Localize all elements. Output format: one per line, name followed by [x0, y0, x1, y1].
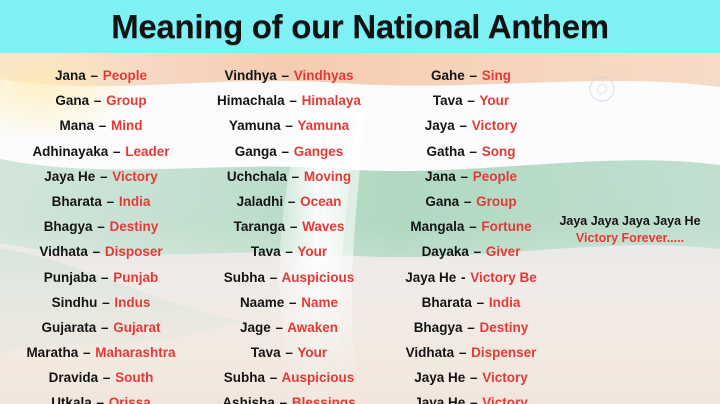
dash: –: [476, 295, 486, 310]
glossary-row: Jaya He – Victory: [382, 390, 560, 404]
refrain-line-1: Jaya Jaya Jaya Jaya He: [540, 213, 720, 230]
term: Jaya: [425, 118, 455, 133]
term: Subha: [224, 370, 265, 385]
gloss: Group: [106, 93, 147, 108]
term: Ganga: [235, 144, 277, 159]
glossary-row: Adhinayaka – Leader: [6, 139, 196, 164]
term: Gatha: [426, 144, 464, 159]
dash: –: [473, 244, 483, 259]
dash: –: [280, 144, 290, 159]
glossary-row: Vidhata – Disposer: [6, 239, 196, 264]
gloss: Victory: [482, 395, 528, 404]
glossary-row: Jana – People: [6, 63, 196, 88]
dash: –: [469, 68, 479, 83]
term: Mana: [59, 118, 94, 133]
anthem-meaning-poster: Meaning of our National Anthem Jana – Pe…: [0, 0, 720, 404]
term: Gana: [425, 194, 459, 209]
term: Tava: [251, 244, 281, 259]
refrain-block: Jaya Jaya Jaya Jaya He Victory Forever..…: [540, 213, 720, 247]
term: Maratha: [26, 345, 78, 360]
refrain-line-2: Victory Forever.....: [540, 230, 720, 247]
term: Bharata: [52, 194, 102, 209]
dash: –: [459, 118, 469, 133]
glossary-row: Punjaba – Punjab: [6, 265, 196, 290]
dash: –: [284, 118, 294, 133]
glossary-row: Yamuna – Yamuna: [198, 113, 380, 138]
dash: –: [469, 395, 479, 404]
dash: -: [460, 270, 467, 285]
glossary-row: Tava – Your: [198, 239, 380, 264]
dash: –: [469, 370, 479, 385]
term: Taranga: [234, 219, 286, 234]
gloss: Disposer: [105, 244, 163, 259]
dash: –: [284, 244, 294, 259]
dash: –: [92, 244, 102, 259]
glossary-row: Bharata – India: [382, 290, 560, 315]
term: Jaladhi: [237, 194, 284, 209]
term: Vidhata: [39, 244, 88, 259]
dash: –: [288, 295, 298, 310]
glossary-row: Naame – Name: [198, 290, 380, 315]
dash: –: [466, 320, 476, 335]
gloss: Giver: [486, 244, 521, 259]
gloss: Yamuna: [297, 118, 349, 133]
glossary-row: Bhagya – Destiny: [6, 214, 196, 239]
term: Subha: [224, 270, 265, 285]
glossary-row: Vidhata – Dispenser: [382, 340, 560, 365]
gloss: Indus: [114, 295, 150, 310]
dash: –: [287, 194, 297, 209]
dash: –: [99, 169, 109, 184]
dash: –: [289, 219, 299, 234]
glossary-row: Jaya – Victory: [382, 113, 560, 138]
term: Bhagya: [414, 320, 463, 335]
glossary-row: Taranga – Waves: [198, 214, 380, 239]
term: Dayaka: [422, 244, 469, 259]
dash: –: [102, 370, 112, 385]
dash: –: [466, 93, 476, 108]
gloss: Victory: [112, 169, 158, 184]
term: Bhagya: [44, 219, 93, 234]
dash: –: [96, 219, 106, 234]
gloss: Destiny: [110, 219, 159, 234]
gloss: Your: [297, 244, 327, 259]
term: Mangala: [410, 219, 464, 234]
term: Uchchala: [227, 169, 287, 184]
gloss: India: [489, 295, 521, 310]
glossary-row: Dayaka – Giver: [382, 239, 560, 264]
term: Yamuna: [229, 118, 281, 133]
glossary-column-3: Gahe – Sing Tava – Your Jaya – Victory G…: [382, 63, 560, 404]
dash: –: [93, 93, 103, 108]
term: Gana: [55, 93, 89, 108]
dash: –: [469, 144, 479, 159]
glossary-row: Jaya He – Victory: [6, 164, 196, 189]
glossary-row: Subha – Auspicious: [198, 365, 380, 390]
gloss: Destiny: [480, 320, 529, 335]
term: Gahe: [431, 68, 465, 83]
term: Punjaba: [44, 270, 97, 285]
gloss: Fortune: [481, 219, 531, 234]
gloss: Song: [482, 144, 516, 159]
glossary-row: Jana – People: [382, 164, 560, 189]
dash: –: [100, 270, 110, 285]
gloss: Your: [479, 93, 509, 108]
term: Bharata: [422, 295, 472, 310]
gloss: Your: [297, 345, 327, 360]
glossary-row: Bharata – India: [6, 189, 196, 214]
glossary-row: Sindhu – Indus: [6, 290, 196, 315]
gloss: Himalaya: [302, 93, 361, 108]
dash: –: [269, 270, 279, 285]
gloss: Blessings: [292, 395, 356, 404]
term: Jana: [425, 169, 456, 184]
glossary-row: Gujarata – Gujarat: [6, 315, 196, 340]
gloss: Moving: [304, 169, 351, 184]
glossary-row: Subha – Auspicious: [198, 265, 380, 290]
glossary-row: Uchchala – Moving: [198, 164, 380, 189]
term: Adhinayaka: [32, 144, 108, 159]
gloss: Dispenser: [471, 345, 536, 360]
glossary-row: Gahe – Sing: [382, 63, 560, 88]
gloss: Punjab: [113, 270, 158, 285]
dash: –: [463, 194, 473, 209]
gloss: Ganges: [294, 144, 344, 159]
dash: –: [279, 395, 289, 404]
glossary-row: Gatha – Song: [382, 139, 560, 164]
page-title: Meaning of our National Anthem: [111, 10, 609, 43]
term: Gujarata: [41, 320, 96, 335]
glossary-row: Dravida – South: [6, 365, 196, 390]
term: Tava: [251, 345, 281, 360]
gloss: India: [119, 194, 151, 209]
dash: –: [101, 295, 111, 310]
term: Sindhu: [52, 295, 98, 310]
gloss: Victory: [472, 118, 518, 133]
gloss: Maharashtra: [95, 345, 175, 360]
glossary-row: Jaladhi – Ocean: [198, 189, 380, 214]
glossary-row: Gana – Group: [382, 189, 560, 214]
gloss: Group: [476, 194, 517, 209]
term: Tava: [433, 93, 463, 108]
gloss: People: [473, 169, 517, 184]
glossary-row: Tava – Your: [198, 340, 380, 365]
gloss: South: [115, 370, 153, 385]
term: Vidhata: [406, 345, 455, 360]
glossary-row: Jaya He - Victory Be: [382, 265, 560, 290]
glossary-row: Mana – Mind: [6, 113, 196, 138]
gloss: Sing: [482, 68, 511, 83]
gloss: People: [103, 68, 147, 83]
gloss: Gujarat: [113, 320, 160, 335]
gloss: Waves: [302, 219, 344, 234]
gloss: Victory Be: [470, 270, 537, 285]
glossary-row: Ganga – Ganges: [198, 139, 380, 164]
dash: –: [82, 345, 92, 360]
gloss: Awaken: [287, 320, 338, 335]
dash: –: [106, 194, 116, 209]
dash: –: [280, 68, 290, 83]
dash: –: [98, 118, 108, 133]
glossary-row: Ashisha – Blessings: [198, 390, 380, 404]
dash: –: [95, 395, 105, 404]
dash: –: [275, 320, 285, 335]
glossary-row: Tava – Your: [382, 88, 560, 113]
dash: –: [269, 370, 279, 385]
header-bar: Meaning of our National Anthem: [0, 0, 720, 53]
glossary-row: Utkala – Orissa: [6, 390, 196, 404]
glossary-row: Bhagya – Destiny: [382, 315, 560, 340]
dash: –: [468, 219, 478, 234]
gloss: Name: [301, 295, 338, 310]
glossary-column-1: Jana – People Gana – Group Mana – Mind A…: [6, 63, 196, 404]
glossary-row: Himachala – Himalaya: [198, 88, 380, 113]
term: Naame: [240, 295, 284, 310]
dash: –: [90, 68, 100, 83]
term: Ashisha: [222, 395, 275, 404]
glossary-row: Vindhya – Vindhyas: [198, 63, 380, 88]
gloss: Orissa: [109, 395, 151, 404]
term: Dravida: [49, 370, 99, 385]
term: Himachala: [217, 93, 285, 108]
glossary-row: Gana – Group: [6, 88, 196, 113]
term: Jana: [55, 68, 86, 83]
dash: –: [288, 93, 298, 108]
dash: –: [458, 345, 468, 360]
dash: –: [460, 169, 470, 184]
glossary-row: Mangala – Fortune: [382, 214, 560, 239]
term: Utkala: [51, 395, 92, 404]
dash: –: [112, 144, 122, 159]
gloss: Mind: [111, 118, 143, 133]
gloss: Auspicious: [282, 270, 355, 285]
term: Vindhya: [224, 68, 276, 83]
term: Jaya He: [414, 395, 465, 404]
term: Jaya He: [405, 270, 456, 285]
glossary-column-2: Vindhya – Vindhyas Himachala – Himalaya …: [198, 63, 380, 404]
glossary-row: Jage – Awaken: [198, 315, 380, 340]
gloss: Vindhyas: [294, 68, 354, 83]
glossary-row: Maratha – Maharashtra: [6, 340, 196, 365]
dash: –: [100, 320, 110, 335]
term: Jage: [240, 320, 271, 335]
term: Jaya He: [414, 370, 465, 385]
gloss: Ocean: [300, 194, 341, 209]
dash: –: [291, 169, 301, 184]
dash: –: [284, 345, 294, 360]
gloss: Auspicious: [282, 370, 355, 385]
gloss: Leader: [125, 144, 169, 159]
term: Jaya He: [44, 169, 95, 184]
gloss: Victory: [482, 370, 528, 385]
glossary-row: Jaya He – Victory: [382, 365, 560, 390]
